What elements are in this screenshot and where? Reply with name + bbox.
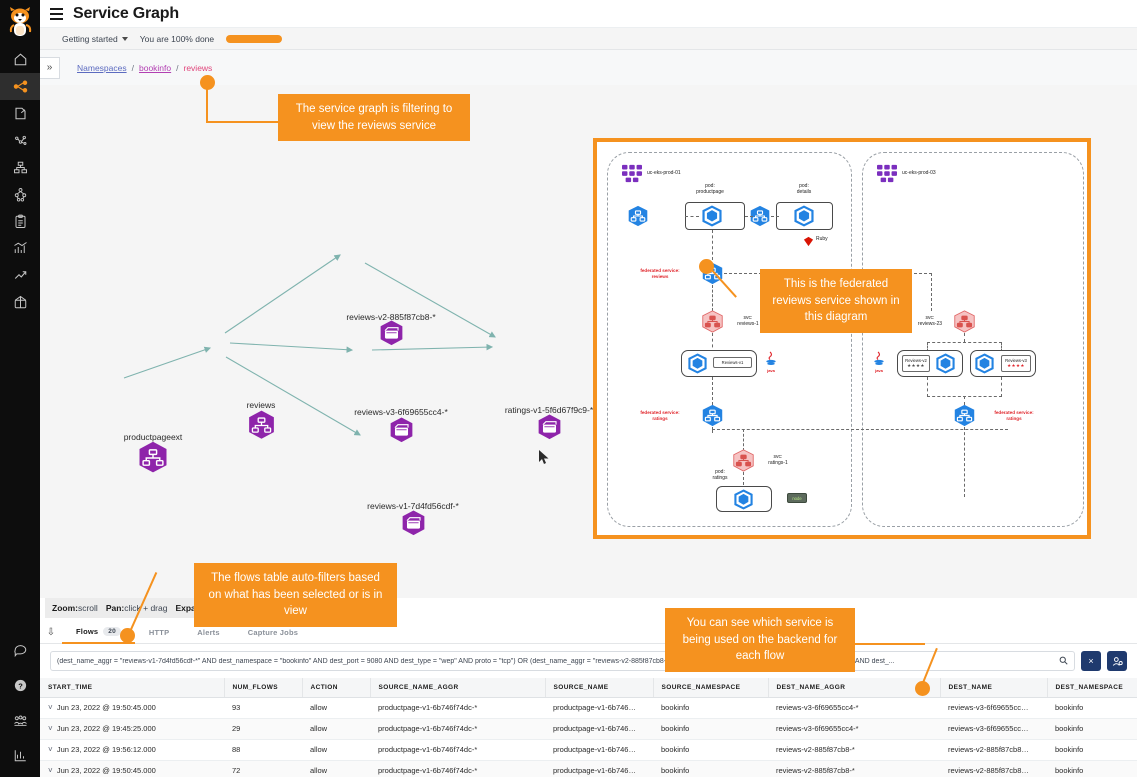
annotation-graph-filter: The service graph is filtering to view t… <box>278 94 470 141</box>
cell-source-name-aggr: productpage-v1-6b746f74dc-* <box>370 739 545 760</box>
svc-ratings-1-label: svc:ratings-1 <box>758 454 798 467</box>
cell-action: allow <box>302 760 370 777</box>
mouse-cursor-icon <box>539 450 550 470</box>
getting-started-bar: Getting started You are 100% done <box>40 28 1137 50</box>
table-row[interactable]: ˅ Jun 23, 2022 @ 19:45:25.000 29 allow p… <box>40 718 1137 739</box>
tab-flows-badge: 20 <box>103 627 121 636</box>
graph-node-reviews-v2[interactable] <box>377 319 406 353</box>
ruby-label: Ruby <box>816 236 828 242</box>
graph-node-reviews-v3[interactable] <box>387 416 416 450</box>
cell-dest-namespace: bookinfo <box>1047 760 1137 777</box>
federated-ratings-right-label: federated service:ratings <box>981 410 1047 422</box>
graph-node-ratings-v1[interactable] <box>535 413 564 447</box>
reviews-v2-chip: Reviews-v2 ★★★★ <box>902 355 930 372</box>
table-row[interactable]: ˅ Jun 23, 2022 @ 19:50:45.000 93 allow p… <box>40 697 1137 718</box>
cell-dest-name: reviews-v3-6f69655cc… <box>940 718 1047 739</box>
cell-dest-name: reviews-v2-885f87cb8… <box>940 739 1047 760</box>
graph-node-reviews-v1[interactable] <box>399 509 428 543</box>
breadcrumb-item-bookinfo[interactable]: bookinfo <box>139 63 171 73</box>
cell-dest-name-aggr: reviews-v2-885f87cb8-* <box>768 739 940 760</box>
sidebar-item-home[interactable] <box>0 46 40 73</box>
row-expand-chevron-icon[interactable]: ˅ <box>48 703 53 712</box>
table-header-row: START_TIME NUM_FLOWS ACTION SOURCE_NAME_… <box>40 678 1137 697</box>
cell-start-time: ˅ Jun 23, 2022 @ 19:50:45.000 <box>40 697 224 718</box>
sidebar-item-network-sets[interactable] <box>0 154 40 181</box>
users-icon[interactable] <box>0 703 40 738</box>
pod-productpage-icon <box>701 205 723 232</box>
getting-started-progress-bar <box>226 35 282 43</box>
cell-start-time: ˅ Jun 23, 2022 @ 19:45:25.000 <box>40 718 224 739</box>
column-dest-namespace[interactable]: DEST_NAMESPACE <box>1047 678 1137 697</box>
chevron-double-down-icon[interactable]: ⇩ <box>40 627 62 638</box>
cluster-label-prod-01: uc-eks-prod-01 <box>647 170 681 176</box>
federated-reviews-label: federated service:reviews <box>629 268 691 280</box>
cell-dest-name-aggr: reviews-v3-6f69655cc4-* <box>768 697 940 718</box>
cell-start-time: ˅ Jun 23, 2022 @ 19:56:12.000 <box>40 739 224 760</box>
hamburger-icon[interactable] <box>50 8 63 20</box>
java-label-1: java <box>761 368 781 373</box>
graph-node-reviews[interactable] <box>245 409 278 447</box>
annotation-backend-service: You can see which service is being used … <box>665 608 855 672</box>
cell-source-name-aggr: productpage-v1-6b746f74dc-* <box>370 718 545 739</box>
svg-text:?: ? <box>18 682 23 691</box>
page-title: Service Graph <box>73 5 179 23</box>
ruby-logo-icon <box>803 234 814 252</box>
sidebar-item-timeseries[interactable] <box>0 262 40 289</box>
cell-num-flows: 93 <box>224 697 302 718</box>
cell-source-name-aggr: productpage-v1-6b746f74dc-* <box>370 760 545 777</box>
sidebar-item-archive[interactable] <box>0 289 40 316</box>
cell-num-flows: 29 <box>224 718 302 739</box>
cell-dest-namespace: bookinfo <box>1047 718 1137 739</box>
graph-node-label: reviews <box>247 400 276 410</box>
reviews-v1-chip: Reviews-v1 <box>713 357 752 368</box>
annotation-dot-flows-table <box>120 628 135 643</box>
clear-filter-button[interactable]: × <box>1081 651 1101 671</box>
annotation-leader <box>855 643 925 645</box>
cluster-icon <box>621 164 643 189</box>
pan-hint-key: Pan: <box>106 603 124 613</box>
cell-source-namespace: bookinfo <box>653 718 768 739</box>
row-expand-chevron-icon[interactable]: ˅ <box>48 745 53 754</box>
cell-dest-namespace: bookinfo <box>1047 739 1137 760</box>
table-body: ˅ Jun 23, 2022 @ 19:50:45.000 93 allow p… <box>40 697 1137 777</box>
column-source-name[interactable]: SOURCE_NAME <box>545 678 653 697</box>
cell-dest-name-aggr: reviews-v2-885f87cb8-* <box>768 760 940 777</box>
graph-node-label: reviews-v3-6f69655cc4-* <box>354 407 448 417</box>
sidebar-bottom-nav: ? <box>0 633 40 777</box>
pod-ratings-icon <box>733 489 754 515</box>
annotation-dot-backend <box>915 681 930 696</box>
breadcrumb-separator: / <box>132 63 134 73</box>
cluster-label-prod-03: uc-eks-prod-03 <box>902 170 936 176</box>
sidebar-item-service-graph[interactable] <box>0 73 40 100</box>
svc-reviews-23-label: svc:reviews-23 <box>909 315 951 328</box>
graph-node-label: reviews-v1-7d4fd56cdf-* <box>367 501 459 511</box>
cell-source-namespace: bookinfo <box>653 697 768 718</box>
getting-started-progress-text: You are 100% done <box>140 34 214 44</box>
details-service-icon <box>749 205 771 232</box>
column-num-flows[interactable]: NUM_FLOWS <box>224 678 302 697</box>
graph-node-label: productpageext <box>124 432 183 442</box>
cell-dest-name: reviews-v2-885f87cb8… <box>940 760 1047 777</box>
graph-node-productpageext[interactable] <box>135 440 171 481</box>
cell-start-time: ˅ Jun 23, 2022 @ 19:50:45.000 <box>40 760 224 777</box>
reviews-v3-chip: Reviews-v3 ★★★★ <box>1001 355 1031 372</box>
filter-query-text: (dest_name_aggr = "reviews-v1-7d4fd56cdf… <box>57 658 1055 665</box>
column-source-name-aggr[interactable]: SOURCE_NAME_AGGR <box>370 678 545 697</box>
help-circle-icon[interactable]: ? <box>0 668 40 703</box>
chat-icon[interactable] <box>0 633 40 668</box>
annotation-federated-service: This is the federated reviews service sh… <box>760 269 912 333</box>
pod-details-icon <box>793 205 815 232</box>
pod-reviews-v3-icon <box>974 353 995 379</box>
getting-started-label: Getting started <box>62 34 118 44</box>
user-filter-button[interactable] <box>1107 651 1127 671</box>
search-icon[interactable] <box>1059 656 1068 667</box>
filter-query-input[interactable]: (dest_name_aggr = "reviews-v1-7d4fd56cdf… <box>50 651 1075 671</box>
sidebar-item-hierarchy[interactable] <box>0 181 40 208</box>
tab-http[interactable]: HTTP <box>135 622 183 644</box>
tab-flows-label: Flows <box>76 627 98 636</box>
cell-dest-name: reviews-v3-6f69655cc… <box>940 697 1047 718</box>
sidebar-item-dashboards[interactable] <box>0 235 40 262</box>
row-expand-chevron-icon[interactable]: ˅ <box>48 766 53 775</box>
reviews-v3-stars: ★★★★ <box>1007 363 1025 369</box>
annotation-dot-federated <box>699 259 714 274</box>
pan-hint-value: click + drag <box>124 603 167 613</box>
cell-action: allow <box>302 718 370 739</box>
column-start-time[interactable]: START_TIME <box>40 678 224 697</box>
column-dest-name[interactable]: DEST_NAME <box>940 678 1047 697</box>
java-label-2: java <box>869 368 889 373</box>
sidebar: ? <box>0 0 40 777</box>
annotation-leader <box>206 121 278 123</box>
tigera-tiger-logo[interactable] <box>0 0 40 46</box>
zoom-hint-key: Zoom: <box>52 603 78 613</box>
annotation-flows-table: The flows table auto-filters based on wh… <box>194 563 397 627</box>
cell-source-name: productpage-v1-6b746… <box>545 718 653 739</box>
cell-dest-name-aggr: reviews-v3-6f69655cc4-* <box>768 718 940 739</box>
cell-num-flows: 88 <box>224 739 302 760</box>
reviews-v2-stars: ★★★★ <box>907 363 925 369</box>
graph-node-label: ratings-v1-5f6d67f9c9-* <box>505 405 593 415</box>
stats-icon[interactable] <box>0 738 40 773</box>
column-source-namespace[interactable]: SOURCE_NAMESPACE <box>653 678 768 697</box>
cell-dest-namespace: bookinfo <box>1047 697 1137 718</box>
sidebar-item-compliance[interactable] <box>0 208 40 235</box>
cell-source-name: productpage-v1-6b746… <box>545 739 653 760</box>
cell-source-namespace: bookinfo <box>653 739 768 760</box>
breadcrumb-separator: / <box>176 63 178 73</box>
breadcrumb-item-reviews: reviews <box>184 63 213 73</box>
sidebar-nav <box>0 46 40 316</box>
cell-source-name: productpage-v1-6b746… <box>545 760 653 777</box>
pod-reviews-v2-icon <box>935 353 956 379</box>
service-graph-page: ? Service Graph Getting started You are … <box>0 0 1137 777</box>
sidebar-expander-button[interactable]: » <box>40 57 60 79</box>
annotation-dot-graph-filter <box>200 75 215 90</box>
external-service-icon <box>627 205 649 232</box>
pod-productpage-label: pod:productpage <box>680 183 740 196</box>
architecture-diagram-panel: uc-eks-prod-01 uc-eks-prod-03 pod:produc… <box>593 138 1091 539</box>
chevron-down-icon <box>122 37 128 41</box>
diagram-cluster-prod-03 <box>862 152 1084 527</box>
federated-ratings-label: federated service:ratings <box>627 410 693 422</box>
pod-reviews-v1-icon <box>687 353 708 379</box>
flows-table[interactable]: START_TIME NUM_FLOWS ACTION SOURCE_NAME_… <box>40 678 1137 777</box>
cluster-icon <box>876 164 898 189</box>
zoom-hint-value: scroll <box>78 603 98 613</box>
pod-details-label: pod:details <box>777 183 831 196</box>
column-action[interactable]: ACTION <box>302 678 370 697</box>
sidebar-item-nodes[interactable] <box>0 127 40 154</box>
cell-num-flows: 72 <box>224 760 302 777</box>
breadcrumb: Namespaces / bookinfo / reviews <box>77 63 212 73</box>
row-expand-chevron-icon[interactable]: ˅ <box>48 724 53 733</box>
getting-started-dropdown[interactable]: Getting started <box>62 34 128 44</box>
nodejs-chip: node <box>787 493 807 503</box>
cell-source-name-aggr: productpage-v1-6b746f74dc-* <box>370 697 545 718</box>
cell-action: allow <box>302 739 370 760</box>
pod-ratings-label: pod:ratings <box>701 469 739 482</box>
app-header: Service Graph <box>40 0 1137 28</box>
sidebar-item-policies[interactable] <box>0 100 40 127</box>
table-row[interactable]: ˅ Jun 23, 2022 @ 19:56:12.000 88 allow p… <box>40 739 1137 760</box>
breadcrumb-item-namespaces[interactable]: Namespaces <box>77 63 127 73</box>
cell-source-name: productpage-v1-6b746… <box>545 697 653 718</box>
table-row[interactable]: ˅ Jun 23, 2022 @ 19:50:45.000 72 allow p… <box>40 760 1137 777</box>
cell-source-namespace: bookinfo <box>653 760 768 777</box>
filter-bar: (dest_name_aggr = "reviews-v1-7d4fd56cdf… <box>40 644 1137 678</box>
graph-node-label: reviews-v2-885f87cb8-* <box>346 312 435 322</box>
cell-action: allow <box>302 697 370 718</box>
